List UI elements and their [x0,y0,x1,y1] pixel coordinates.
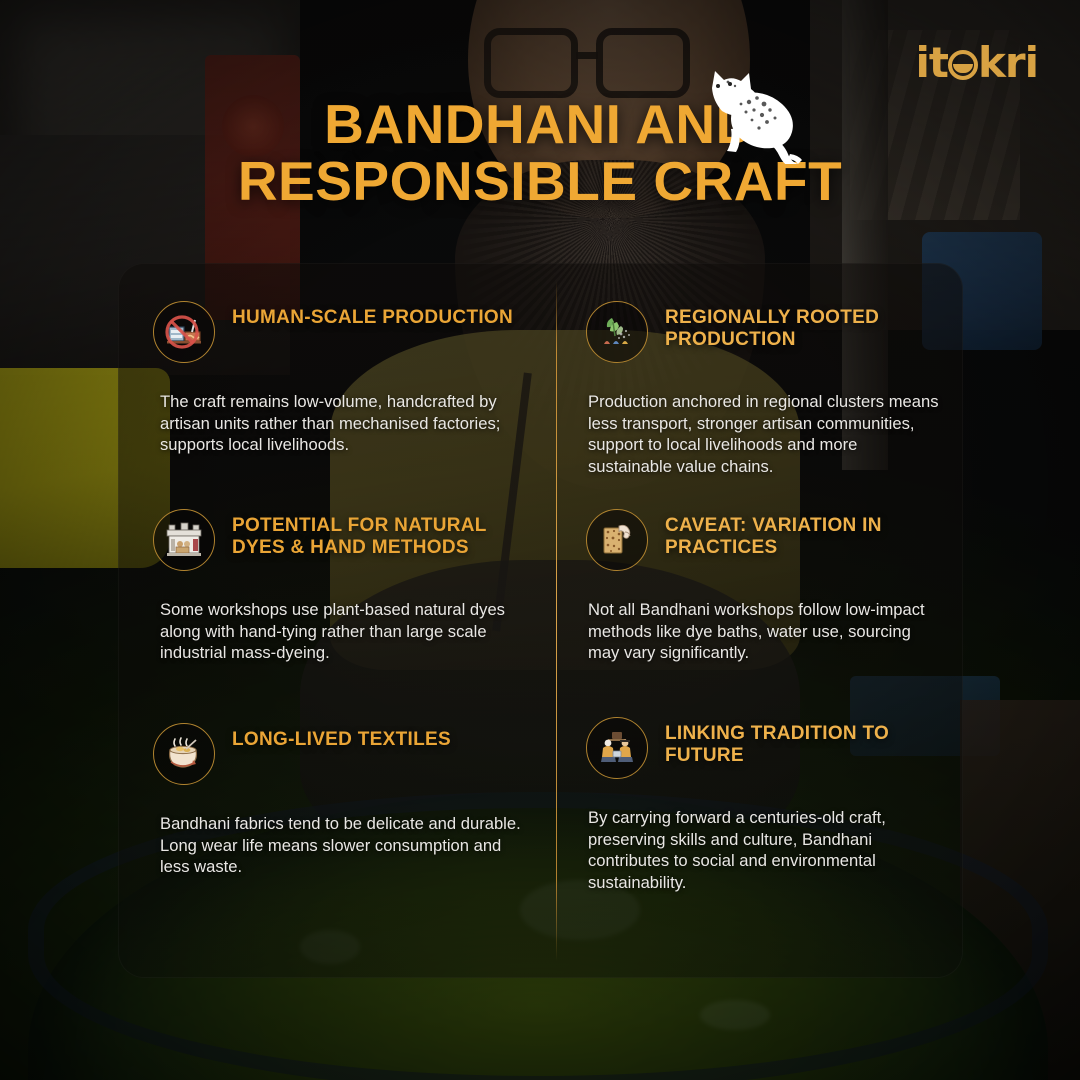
sprout-soil-icon [586,301,648,363]
title-line-2: RESPONSIBLE CRAFT [0,153,1080,210]
cat-illustration-icon [694,58,806,164]
block-heading: HUMAN-SCALE PRODUCTION [232,301,513,329]
itokri-logo[interactable]: itkri [915,42,1038,84]
block-long-lived-textiles: LONG-LIVED TEXTILES Bandhani fabrics ten… [118,679,556,909]
content-card: HUMAN-SCALE PRODUCTION The craft remains… [118,263,963,978]
block-heading: CAVEAT: VARIATION IN PRACTICES [665,509,939,559]
block-human-scale-production: HUMAN-SCALE PRODUCTION The craft remains… [118,263,556,471]
block-body: Not all Bandhani workshops follow low-im… [588,599,939,664]
page-title: BANDHANI AND RESPONSIBLE CRAFT [0,96,1080,209]
blocks-grid: HUMAN-SCALE PRODUCTION The craft remains… [118,263,963,978]
block-body: Production anchored in regional clusters… [588,391,939,478]
block-heading: REGIONALLY ROOTED PRODUCTION [665,301,939,351]
block-caveat-variation-in-practices: CAVEAT: VARIATION IN PRACTICES Not all B… [556,471,963,679]
block-header: HUMAN-SCALE PRODUCTION [153,263,534,363]
steaming-dye-pot-icon [153,723,215,785]
block-header: LINKING TRADITION TO FUTURE [586,679,939,779]
block-header: POTENTIAL FOR NATURAL DYES & HAND METHOD… [153,471,534,571]
logo-ring-icon [948,50,978,80]
block-heading: POTENTIAL FOR NATURAL DYES & HAND METHOD… [232,509,534,559]
logo-text-pre: it [915,38,947,87]
hand-holding-fabric-icon [586,509,648,571]
block-regionally-rooted-production: REGIONALLY ROOTED PRODUCTION Production … [556,263,963,471]
block-linking-tradition-to-future: LINKING TRADITION TO FUTURE By carrying … [556,679,963,909]
block-heading: LINKING TRADITION TO FUTURE [665,717,939,767]
block-body: The craft remains low-volume, handcrafte… [160,391,534,456]
title-line-1: BANDHANI AND [324,93,756,155]
block-natural-dyes-hand-methods: POTENTIAL FOR NATURAL DYES & HAND METHOD… [118,471,556,679]
workshop-shop-icon [153,509,215,571]
block-heading: LONG-LIVED TEXTILES [232,723,451,751]
infographic-poster: itkri BANDHANI AND RESPONSIBLE CRAFT [0,0,1080,1080]
block-header: CAVEAT: VARIATION IN PRACTICES [586,471,939,571]
block-body: By carrying forward a centuries-old craf… [588,807,939,894]
block-header: LONG-LIVED TEXTILES [153,679,534,785]
block-body: Some workshops use plant-based natural d… [160,599,534,664]
two-artisans-icon [586,717,648,779]
no-factory-icon [153,301,215,363]
logo-text-post: kri [978,38,1038,87]
block-body: Bandhani fabrics tend to be delicate and… [160,813,534,878]
block-header: REGIONALLY ROOTED PRODUCTION [586,263,939,363]
